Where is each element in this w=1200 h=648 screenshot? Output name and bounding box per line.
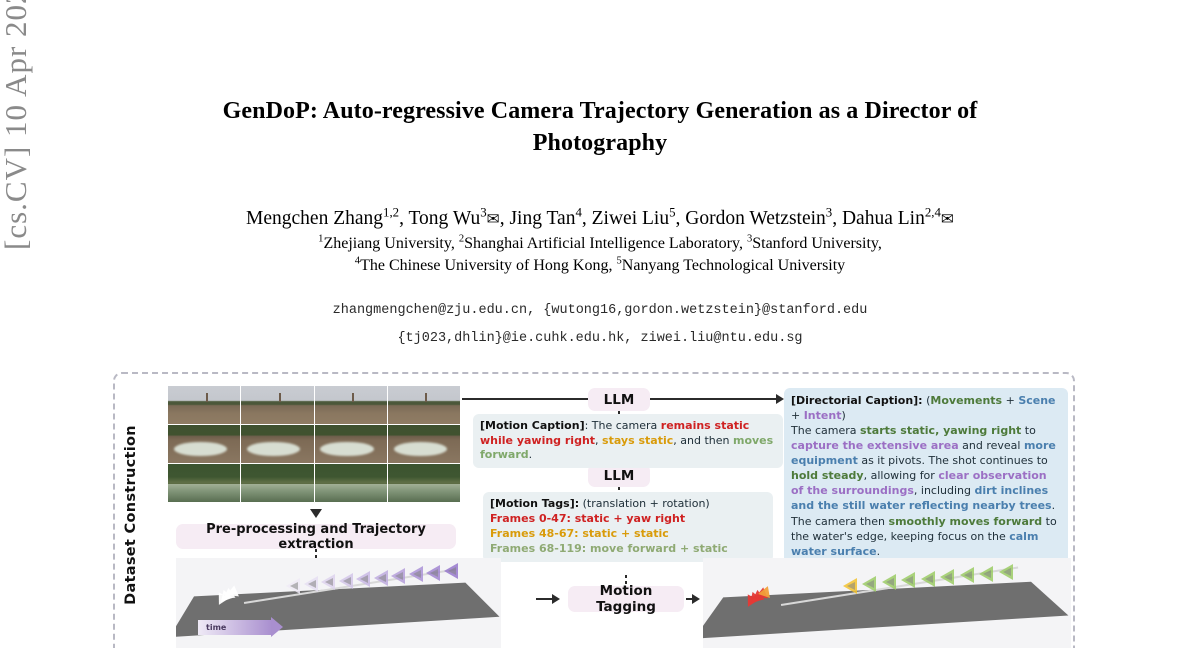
camera-frustum-inner (395, 572, 403, 580)
camera-frustum (960, 567, 974, 583)
video-frame (315, 464, 387, 502)
video-frame-grid (168, 386, 460, 502)
motion-caption-box: [Motion Caption]: The camera remains sta… (473, 414, 783, 468)
camera-frustum (901, 572, 915, 588)
video-frame (388, 425, 460, 463)
camera-frustum-inner (944, 573, 952, 581)
arrow-frames-to-preprocess (310, 509, 322, 518)
camera-frustum (862, 576, 876, 592)
camera-frustum-inner (847, 582, 855, 590)
motion-tagging-label: Motion Tagging (568, 586, 684, 612)
camera-frustum-inner (378, 574, 386, 582)
video-frame (388, 464, 460, 502)
camera-frustum (374, 570, 388, 586)
camera-frustum (426, 565, 440, 581)
motion-tags-box: [Motion Tags]: (translation + rotation) … (483, 492, 773, 562)
camera-frustum (444, 563, 458, 579)
page-title: GenDoP: Auto-regressive Camera Trajector… (160, 96, 1040, 160)
video-frame (315, 386, 387, 424)
connector-llm1-to-directorial (650, 398, 778, 400)
motion-caption-text: [Motion Caption]: The camera remains sta… (480, 419, 776, 463)
camera-frustum (339, 573, 353, 589)
llm-box-top: LLM (588, 388, 650, 411)
video-frame (241, 425, 313, 463)
video-frame (168, 425, 240, 463)
camera-frustum (757, 586, 770, 600)
video-frame (168, 464, 240, 502)
camera-frustum-inner (413, 570, 421, 578)
camera-frustum (286, 578, 300, 594)
motion-tags-label: [Motion Tags]: (490, 497, 579, 510)
motion-tags-subtitle: (translation + rotation) (583, 497, 710, 510)
affiliation-line-2: 4The Chinese University of Hong Kong, 5N… (160, 256, 1040, 276)
arxiv-stamp: [cs.CV] 10 Apr 2025 (0, 0, 34, 250)
camera-frustum (409, 566, 423, 582)
author-list: Mengchen Zhang1,2, Tong Wu3✉, Jing Tan4,… (160, 209, 1040, 229)
motion-tags-row: Frames 48-67: static + static (490, 527, 766, 542)
camera-frustum-inner (925, 575, 933, 583)
figure-section-label: Dataset Construction (118, 400, 144, 630)
camera-frustum-inner (964, 571, 972, 579)
camera-frustum-inner (325, 578, 333, 586)
camera-frustum-inner (905, 576, 913, 584)
camera-frustum (391, 568, 405, 584)
camera-frustum-inner (983, 570, 991, 578)
affiliation-line-1: 1Zhejiang University, 2Shanghai Artifici… (160, 234, 1040, 254)
video-frame (388, 386, 460, 424)
arxiv-stamp-text: [cs.CV] 10 Apr 2025 (0, 0, 34, 250)
motion-tags-row: Frames 68-119: move forward + static (490, 542, 766, 557)
camera-frustum-inner (448, 567, 456, 575)
camera-frustum-inner (360, 575, 368, 583)
directorial-caption-label: [Directorial Caption]: (791, 394, 923, 407)
paper-page: [cs.CV] 10 Apr 2025 GenDoP: Auto-regress… (0, 0, 1200, 648)
trajectory-panel-right (703, 558, 1071, 648)
camera-frustum (921, 571, 935, 587)
email-line-2: {tj023,dhlin}@ie.cuhk.edu.hk, ziwei.liu@… (160, 331, 1040, 346)
camera-frustum-inner (308, 580, 316, 588)
camera-frustum (356, 571, 370, 587)
camera-frustum (940, 569, 954, 585)
motion-tags-header: [Motion Tags]: (translation + rotation) (490, 497, 766, 512)
arrow-to-directorial (776, 394, 784, 404)
trajectory-panel-left: time (176, 558, 501, 648)
figure-section-label-text: Dataset Construction (123, 425, 139, 605)
motion-tags-row: Frames 0-47: static + yaw right (490, 512, 766, 527)
camera-frustum-inner (343, 577, 351, 585)
camera-frustum-inner (430, 569, 438, 577)
video-frame (168, 386, 240, 424)
camera-frustum (304, 576, 318, 592)
video-frame (315, 425, 387, 463)
video-frame (241, 464, 313, 502)
email-line-1: zhangmengchen@zju.edu.cn, {wutong16,gord… (160, 303, 1040, 318)
preprocess-label: Pre-processing and Trajectory extraction (176, 524, 456, 549)
camera-frustum-inner (866, 580, 874, 588)
camera-frustum (999, 564, 1013, 580)
connector-frames-to-llm1 (462, 398, 588, 400)
connector-tagging-to-traj (686, 598, 694, 600)
camera-frustum (843, 578, 857, 594)
time-arrow: time (198, 620, 272, 635)
camera-frustum (882, 574, 896, 590)
directorial-caption-box: [Directorial Caption]: (Movements + Scen… (784, 388, 1068, 564)
directorial-caption-text: The camera starts static, yawing right t… (791, 423, 1061, 559)
camera-frustum-row (703, 558, 1071, 648)
connector-traj-to-tagging (536, 598, 554, 600)
camera-frustum-inner (290, 582, 298, 590)
camera-frustum (979, 566, 993, 582)
directorial-caption-header: [Directorial Caption]: (Movements + Scen… (791, 393, 1061, 423)
video-frame (241, 386, 313, 424)
time-arrow-label: time (206, 623, 226, 632)
camera-frustum (321, 574, 335, 590)
camera-frustum-inner (1003, 568, 1011, 576)
camera-frustum-inner (886, 578, 894, 586)
